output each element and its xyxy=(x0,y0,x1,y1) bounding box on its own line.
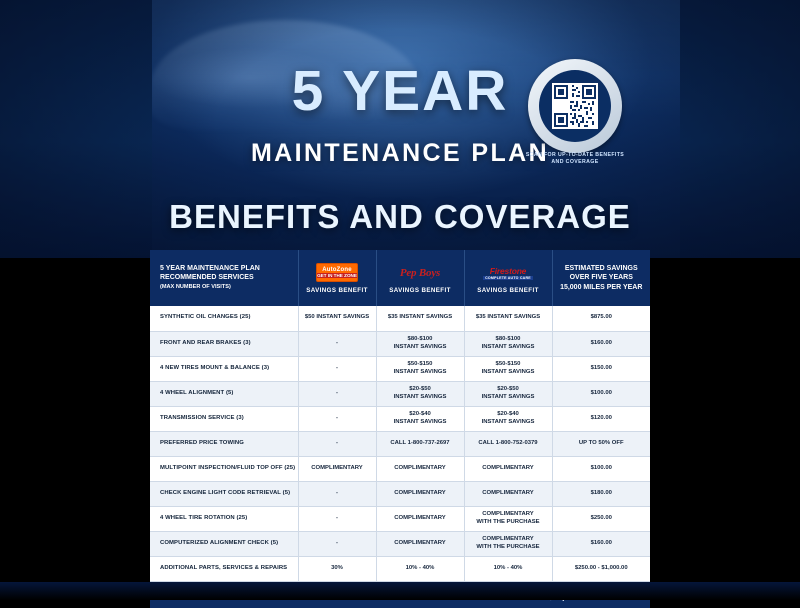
estimated-savings-cell: $250.00 - $1,000.00 xyxy=(552,556,650,581)
estimated-savings-cell: $150.00 xyxy=(552,356,650,381)
table-row: 4 NEW TIRES MOUNT & BALANCE (3)-$50-$150… xyxy=(150,356,650,381)
service-name-cell: MULTIPOINT INSPECTION/FLUID TOP OFF (25) xyxy=(150,456,298,481)
firestone-cell: COMPLIMENTARY xyxy=(464,481,552,506)
estimated-savings-cell: $120.00 xyxy=(552,406,650,431)
qr-code-icon[interactable] xyxy=(552,83,598,129)
header-estimated-line1: ESTIMATED SAVINGS xyxy=(556,264,648,274)
pepboys-cell: $35 INSTANT SAVINGS xyxy=(376,306,464,331)
service-name-cell: 4 WHEEL TIRE ROTATION (25) xyxy=(150,506,298,531)
service-name-cell: 4 NEW TIRES MOUNT & BALANCE (3) xyxy=(150,356,298,381)
estimated-savings-cell: $100.00 xyxy=(552,381,650,406)
pepboys-cell: $20-$50INSTANT SAVINGS xyxy=(376,381,464,406)
table-row: SYNTHETIC OIL CHANGES (25)$50 INSTANT SA… xyxy=(150,306,650,331)
firestone-cell: $20-$50INSTANT SAVINGS xyxy=(464,381,552,406)
service-name-cell: PREFERRED PRICE TOWING xyxy=(150,431,298,456)
header-autozone-savings-label: SAVINGS BENEFIT xyxy=(302,287,373,294)
pepboys-logo-icon: Pep Boys xyxy=(380,263,461,283)
table-row: TRANSMISSION SERVICE (3)-$20-$40INSTANT … xyxy=(150,406,650,431)
pepboys-cell: 10% - 40% xyxy=(376,556,464,581)
table-row: MULTIPOINT INSPECTION/FLUID TOP OFF (25)… xyxy=(150,456,650,481)
hero-banner: 5 YEAR MAINTENANCE PLAN BENEFITS AND COV… xyxy=(0,0,800,258)
estimated-savings-cell: UP TO 50% OFF xyxy=(552,431,650,456)
qr-caption: SCAN FOR UP-TO-DATE BENEFITS AND COVERAG… xyxy=(520,152,630,166)
flyer-page: 5 YEAR MAINTENANCE PLAN BENEFITS AND COV… xyxy=(0,0,800,600)
pepboys-cell: COMPLIMENTARY xyxy=(376,456,464,481)
estimated-savings-cell: $250.00 xyxy=(552,506,650,531)
service-name-cell: CHECK ENGINE LIGHT CODE RETRIEVAL (5) xyxy=(150,481,298,506)
header-services-line3: (MAX NUMBER OF VISITS) xyxy=(160,283,295,293)
firestone-cell: $20-$40INSTANT SAVINGS xyxy=(464,406,552,431)
table-row: CHECK ENGINE LIGHT CODE RETRIEVAL (5)-CO… xyxy=(150,481,650,506)
pepboys-cell: COMPLIMENTARY xyxy=(376,506,464,531)
autozone-cell: - xyxy=(298,531,376,556)
table-row: 4 WHEEL ALIGNMENT (5)-$20-$50INSTANT SAV… xyxy=(150,381,650,406)
autozone-cell: - xyxy=(298,356,376,381)
benefits-table-wrapper: 5 YEAR MAINTENANCE PLAN RECOMMENDED SERV… xyxy=(150,250,650,608)
service-name-cell: ADDITIONAL PARTS, SERVICES & REPAIRS xyxy=(150,556,298,581)
estimated-savings-cell: $875.00 xyxy=(552,306,650,331)
pepboys-cell: COMPLIMENTARY xyxy=(376,531,464,556)
pepboys-cell: $80-$100INSTANT SAVINGS xyxy=(376,331,464,356)
footer-strip xyxy=(0,582,800,600)
header-firestone-savings-label: SAVINGS BENEFIT xyxy=(468,287,549,294)
table-row: FRONT AND REAR BRAKES (3)-$80-$100INSTAN… xyxy=(150,331,650,356)
estimated-savings-cell: $180.00 xyxy=(552,481,650,506)
firestone-logo-tagline: COMPLETE AUTO CARE xyxy=(483,276,533,280)
table-row: ADDITIONAL PARTS, SERVICES & REPAIRS30%1… xyxy=(150,556,650,581)
service-name-cell: 4 WHEEL ALIGNMENT (5) xyxy=(150,381,298,406)
pepboys-cell: $50-$150INSTANT SAVINGS xyxy=(376,356,464,381)
table-header: 5 YEAR MAINTENANCE PLAN RECOMMENDED SERV… xyxy=(150,250,650,306)
autozone-cell: $50 INSTANT SAVINGS xyxy=(298,306,376,331)
header-pepboys: Pep Boys SAVINGS BENEFIT xyxy=(376,250,464,306)
autozone-cell: COMPLIMENTARY xyxy=(298,456,376,481)
pepboys-cell: COMPLIMENTARY xyxy=(376,481,464,506)
firestone-logo-icon: Firestone COMPLETE AUTO CARE xyxy=(468,263,549,283)
qr-inner-circle xyxy=(539,70,611,142)
pepboys-logo-name: Pep Boys xyxy=(400,267,440,279)
header-services-line1: 5 YEAR MAINTENANCE PLAN xyxy=(160,264,295,274)
firestone-logo-name: Firestone xyxy=(490,266,526,276)
page-right-margin xyxy=(650,258,800,600)
firestone-cell: 10% - 40% xyxy=(464,556,552,581)
qr-ring xyxy=(528,59,622,153)
service-name-cell: COMPUTERIZED ALIGNMENT CHECK (5) xyxy=(150,531,298,556)
hero-subtitle: BENEFITS AND COVERAGE xyxy=(0,198,800,236)
firestone-cell: $50-$150INSTANT SAVINGS xyxy=(464,356,552,381)
table-body: SYNTHETIC OIL CHANGES (25)$50 INSTANT SA… xyxy=(150,306,650,581)
autozone-cell: - xyxy=(298,506,376,531)
autozone-logo-icon: AutoZone GET IN THE ZONE xyxy=(302,263,373,283)
estimated-savings-cell: $160.00 xyxy=(552,531,650,556)
hero-title-secondary: MAINTENANCE PLAN xyxy=(0,139,800,168)
page-left-margin xyxy=(0,258,150,600)
table-row: PREFERRED PRICE TOWING-CALL 1-800-737-26… xyxy=(150,431,650,456)
header-estimated-line2: OVER FIVE YEARS xyxy=(556,273,648,283)
benefits-table: 5 YEAR MAINTENANCE PLAN RECOMMENDED SERV… xyxy=(150,250,650,582)
qr-badge[interactable]: SCAN FOR UP-TO-DATE BENEFITS AND COVERAG… xyxy=(528,59,622,169)
header-firestone: Firestone COMPLETE AUTO CARE SAVINGS BEN… xyxy=(464,250,552,306)
pepboys-cell: $20-$40INSTANT SAVINGS xyxy=(376,406,464,431)
header-services-line2: RECOMMENDED SERVICES xyxy=(160,273,295,283)
autozone-cell: - xyxy=(298,481,376,506)
header-autozone: AutoZone GET IN THE ZONE SAVINGS BENEFIT xyxy=(298,250,376,306)
firestone-cell: $80-$100INSTANT SAVINGS xyxy=(464,331,552,356)
hero-title-primary: 5 YEAR xyxy=(0,58,800,124)
estimated-savings-cell: $100.00 xyxy=(552,456,650,481)
table-row: COMPUTERIZED ALIGNMENT CHECK (5)-COMPLIM… xyxy=(150,531,650,556)
firestone-cell: COMPLIMENTARYWITH THE PURCHASE xyxy=(464,531,552,556)
header-services-column: 5 YEAR MAINTENANCE PLAN RECOMMENDED SERV… xyxy=(150,250,298,306)
autozone-cell: - xyxy=(298,381,376,406)
table-row: 4 WHEEL TIRE ROTATION (25)-COMPLIMENTARY… xyxy=(150,506,650,531)
service-name-cell: TRANSMISSION SERVICE (3) xyxy=(150,406,298,431)
header-estimated-line3: 15,000 MILES PER YEAR xyxy=(556,283,648,293)
service-name-cell: SYNTHETIC OIL CHANGES (25) xyxy=(150,306,298,331)
firestone-cell: CALL 1-800-752-0379 xyxy=(464,431,552,456)
estimated-savings-cell: $160.00 xyxy=(552,331,650,356)
header-pepboys-savings-label: SAVINGS BENEFIT xyxy=(380,287,461,294)
autozone-cell: - xyxy=(298,331,376,356)
firestone-cell: $35 INSTANT SAVINGS xyxy=(464,306,552,331)
pepboys-cell: CALL 1-800-737-2697 xyxy=(376,431,464,456)
service-name-cell: FRONT AND REAR BRAKES (3) xyxy=(150,331,298,356)
autozone-logo-tagline: GET IN THE ZONE xyxy=(317,273,357,278)
firestone-cell: COMPLIMENTARY xyxy=(464,456,552,481)
autozone-cell: 30% xyxy=(298,556,376,581)
autozone-cell: - xyxy=(298,431,376,456)
autozone-cell: - xyxy=(298,406,376,431)
header-estimated-savings: ESTIMATED SAVINGS OVER FIVE YEARS 15,000… xyxy=(552,250,650,306)
firestone-cell: COMPLIMENTARYWITH THE PURCHASE xyxy=(464,506,552,531)
